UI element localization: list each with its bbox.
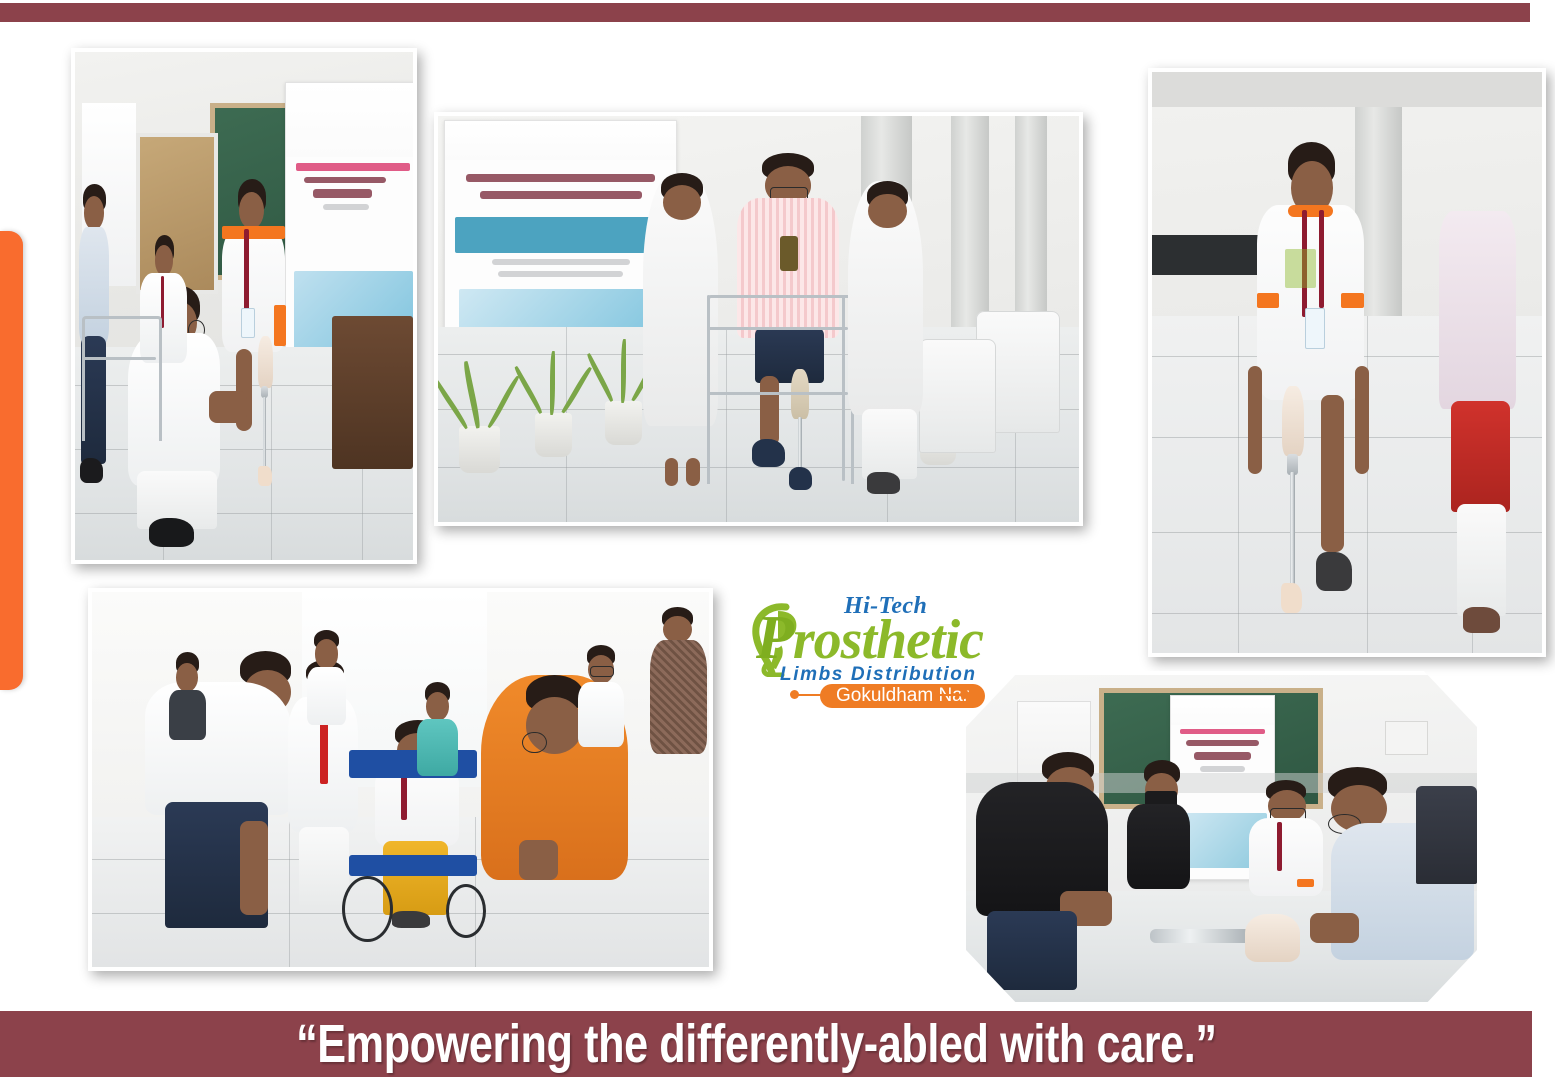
brand-logo: Hi-Tech Prosthetic Limbs Distribution Go… (748, 585, 1008, 705)
photo-clinic-fitting (71, 48, 417, 564)
logo-rule-right (938, 694, 962, 696)
logo-subtitle: Limbs Distribution (780, 664, 977, 686)
logo-dot-right-icon (960, 690, 969, 699)
photo-limb-fitting-team-image (966, 675, 1477, 1002)
caption-text: “Empowering the differently-abled with c… (296, 1013, 1217, 1075)
photo-boy-walking (1148, 68, 1546, 657)
photo-wheelchair-visit-image (92, 592, 709, 967)
photo-wheelchair-visit (88, 588, 713, 971)
logo-brand-rest: rosthetic (793, 609, 983, 671)
logo-brand-cap: P (756, 604, 793, 672)
orange-accent-bar (0, 231, 23, 690)
photo-clinic-fitting-image (75, 52, 413, 560)
caption-band: “Empowering the differently-abled with c… (0, 1011, 1532, 1077)
photo-boy-walking-image (1152, 72, 1542, 653)
logo-rule-left (798, 694, 822, 696)
photo-walker-assist (434, 112, 1083, 526)
photo-limb-fitting-team (962, 671, 1481, 1006)
top-maroon-band (0, 3, 1530, 22)
logo-brand-name: Prosthetic (756, 607, 983, 669)
photo-walker-assist-image (438, 116, 1079, 522)
collage-canvas: Hi-Tech Prosthetic Limbs Distribution Go… (0, 0, 1555, 1080)
